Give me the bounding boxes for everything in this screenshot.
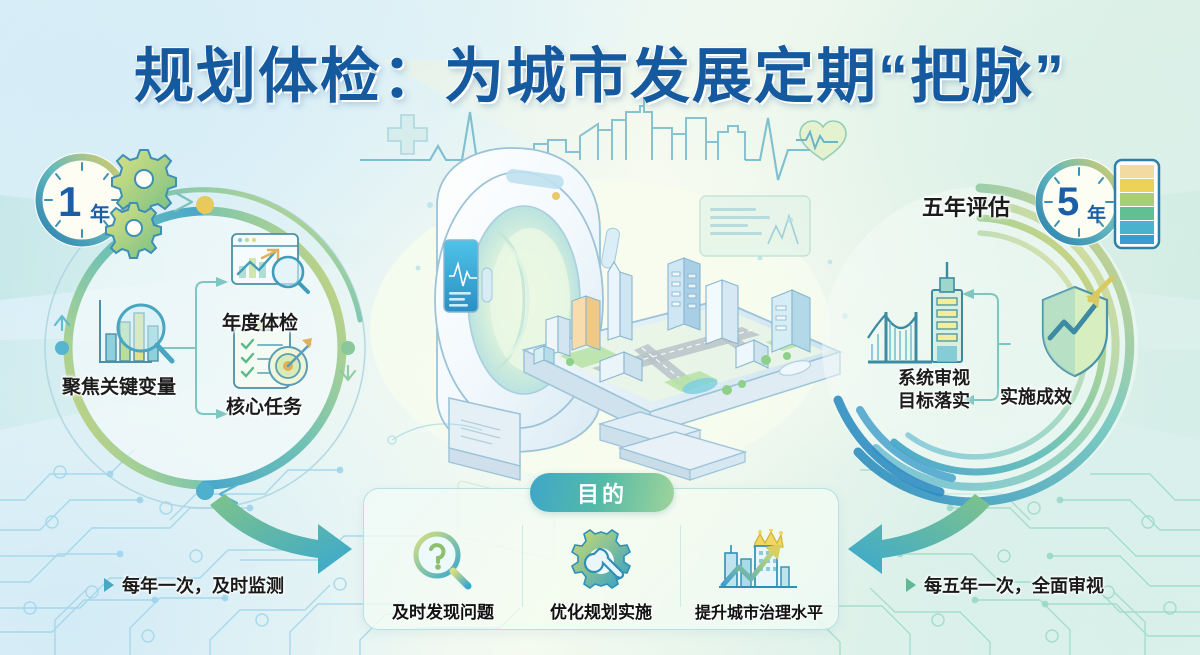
- purpose-item-2[interactable]: 优化规划实施: [522, 511, 680, 629]
- color-gradient-bar-icon: [1115, 160, 1159, 248]
- purpose-badge: 目的: [530, 473, 674, 512]
- triangle-bullet-icon: [104, 578, 114, 592]
- gear-icon-large: [112, 150, 176, 214]
- left-clock-unit: 年: [90, 198, 110, 227]
- gear-wrench-icon: [567, 528, 635, 594]
- left-clock-value: 1: [58, 178, 81, 226]
- right-caption-text: 每五年一次，全面审视: [924, 572, 1104, 598]
- left-hub-label: 聚焦关键变量: [62, 372, 176, 399]
- triangle-bullet-icon: [906, 578, 916, 592]
- right-hub-label-line1: 系统审视: [879, 367, 989, 390]
- question-magnifier-icon: [408, 528, 478, 594]
- right-hub-label: 系统审视 目标落实: [879, 367, 989, 413]
- gear-icon-small: [106, 203, 161, 258]
- right-cycle-heading: 五年评估: [922, 190, 1010, 222]
- purpose-item-3[interactable]: 提升城市治理水平: [680, 511, 838, 629]
- left-caption-text: 每年一次，及时监测: [122, 572, 284, 598]
- curved-arrow-left-icon: [848, 494, 990, 574]
- left-clock-badge: 1 年: [30, 142, 180, 267]
- right-clock-value: 5: [1057, 180, 1079, 225]
- right-hub-label-line2: 目标落实: [879, 390, 989, 413]
- right-branch-label: 实施成效: [1000, 383, 1072, 409]
- left-branch-label-2: 核心任务: [226, 392, 302, 419]
- left-branch-label-1: 年度体检: [222, 308, 298, 335]
- purpose-item-2-label: 优化规划实施: [550, 598, 652, 623]
- left-cycle-caption: 每年一次，及时监测: [104, 572, 284, 598]
- right-cycle-caption: 每五年一次，全面审视: [906, 572, 1104, 598]
- city-crown-growth-icon: [717, 529, 801, 595]
- purpose-item-1-label: 及时发现问题: [392, 598, 494, 623]
- purpose-item-1[interactable]: 及时发现问题: [364, 511, 522, 629]
- purpose-item-3-label: 提升城市治理水平: [695, 599, 823, 623]
- right-clock-badge: 5 年: [1035, 152, 1175, 265]
- curved-arrow-right-icon: [210, 494, 352, 574]
- right-clock-unit: 年: [1087, 200, 1106, 227]
